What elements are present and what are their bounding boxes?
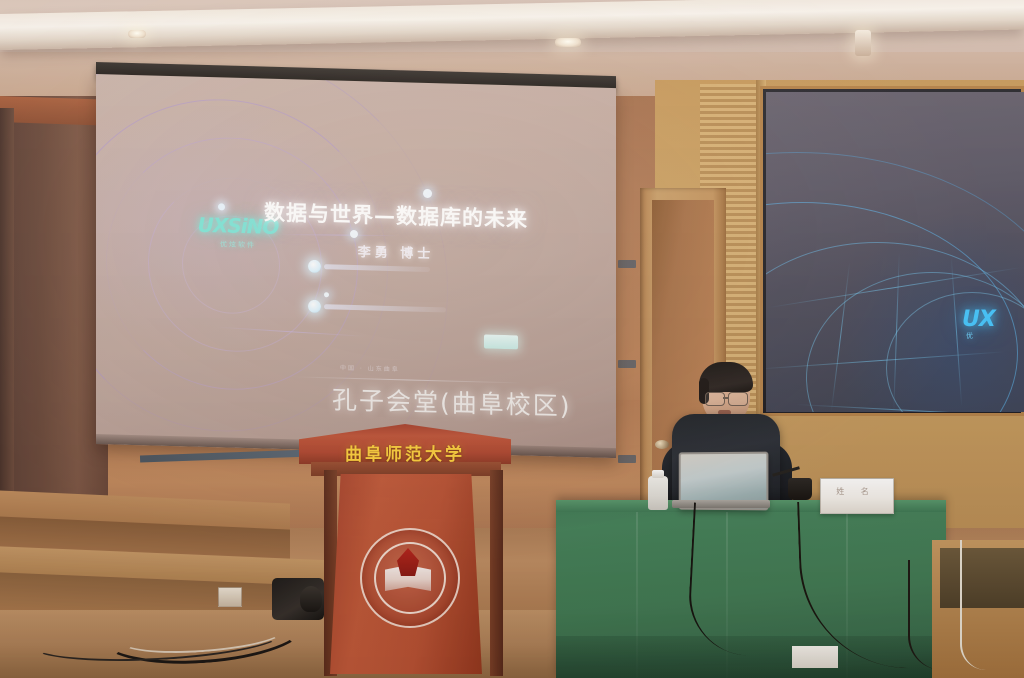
stage-equipment: [300, 586, 322, 612]
wall-accent-tile: [618, 260, 636, 268]
ceiling-downlight-icon: [555, 38, 581, 47]
right-display-wordmark: UX: [962, 307, 995, 332]
podium-top: [311, 462, 501, 476]
slide-node-dot: [324, 292, 329, 297]
right-cable: [960, 540, 988, 670]
lecture-hall-photo: UXSiNO 优炫软件 数据与世界—数据库的未来 李勇 博士 中国 · 山东曲阜…: [0, 0, 1024, 678]
glasses-icon: [705, 392, 725, 406]
name-card-text: 姓 名: [820, 486, 892, 497]
slide-bullet-dot-icon: [308, 260, 321, 273]
projection-screen: UXSiNO 优炫软件 数据与世界—数据库的未来 李勇 博士 中国 · 山东曲阜…: [96, 74, 616, 458]
microphone-base: [788, 478, 812, 500]
water-bottle-cap: [652, 470, 664, 478]
slide-footnote: 中国 · 山东曲阜: [340, 363, 400, 374]
slide-bullet-bar: [324, 304, 446, 312]
slide-venue-text: 孔子会堂(曲阜校区): [332, 380, 572, 422]
slide-logo-subtext: 优炫软件: [174, 238, 302, 251]
water-bottle: [648, 476, 668, 510]
slide-bullet-bar: [324, 264, 430, 272]
slide-connector-line: [216, 327, 366, 337]
right-display-subtext: 优: [966, 331, 975, 341]
floor-name-card: [792, 646, 838, 668]
ceiling-downlight-icon: [855, 30, 871, 56]
glasses-icon: [728, 392, 748, 406]
ceiling-downlight-icon: [128, 30, 146, 38]
slide-node-dot: [350, 230, 358, 238]
door-handle-icon[interactable]: [655, 440, 669, 449]
left-wall-strip: [0, 108, 14, 508]
wall-accent-tile: [618, 455, 636, 463]
slide-bullet-dot-icon: [308, 300, 321, 313]
glasses-bridge: [723, 397, 729, 399]
wall-accent-tile: [618, 360, 636, 368]
left-wall-dark-panel: [0, 96, 108, 516]
slide-node-dot: [423, 189, 432, 198]
slide-subtitle: 李勇 博士: [286, 239, 506, 264]
right-display: UX 优: [766, 92, 1024, 412]
slide-title-bullet-icon: [218, 203, 225, 210]
slide-highlight-chip: [484, 334, 518, 349]
podium-post: [490, 470, 503, 676]
